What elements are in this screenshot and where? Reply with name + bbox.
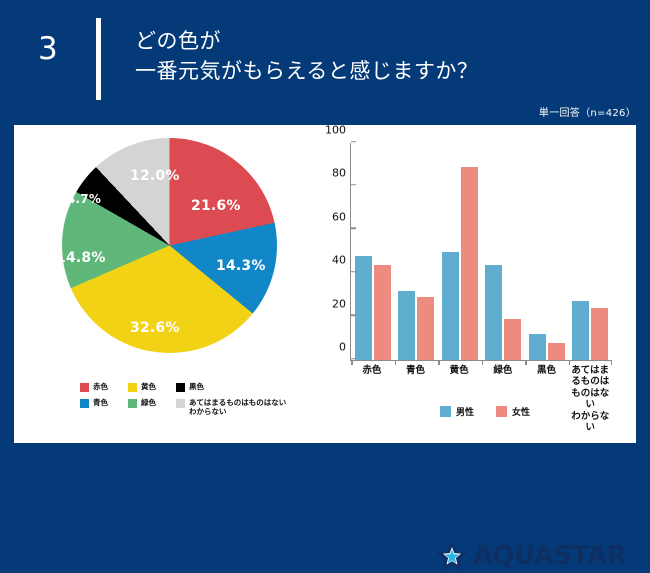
bar-legend-item-male: 男性	[440, 405, 474, 418]
pie-legend-item-red: 赤色	[80, 382, 118, 392]
bar-male	[398, 291, 415, 360]
bar-male	[572, 301, 589, 360]
bar-female	[374, 265, 391, 360]
pie-legend-row: 赤色 黄色 黒色	[80, 382, 320, 392]
y-axis-tick-mark	[351, 184, 356, 186]
response-count-note: 単一回答（n=426）	[539, 104, 636, 119]
bar-group	[569, 143, 613, 360]
star-icon	[435, 540, 469, 572]
legend-swatch-female	[496, 406, 507, 417]
y-axis-tick-mark	[351, 271, 356, 273]
bar-group	[395, 143, 439, 360]
bar-female	[548, 343, 565, 360]
pie-legend-item-yellow: 黄色	[128, 382, 166, 392]
bar-legend-label: 男性	[456, 405, 474, 418]
content-card: 21.6% 14.3% 32.6% 14.8% 4.7% 12.0% 赤色 黄色…	[14, 125, 636, 443]
y-axis-tick-mark	[351, 314, 356, 316]
bar-female	[461, 167, 478, 360]
y-axis-tick-label: 0	[339, 341, 351, 354]
bar-female	[591, 308, 608, 360]
y-axis-tick-mark	[351, 141, 356, 143]
y-axis-tick-mark	[351, 228, 356, 230]
bar-male	[485, 265, 502, 360]
pie-slice-label-red: 21.6%	[191, 198, 241, 214]
bar-group	[482, 143, 526, 360]
pie-legend-label: 黄色	[141, 382, 156, 391]
bar-female	[417, 297, 434, 360]
pie-legend-item-black: 黒色	[176, 382, 204, 392]
pie-legend-item-green: 緑色	[128, 398, 166, 408]
x-axis-category-label: 黒色	[525, 365, 569, 405]
pie-legend-label: 青色	[93, 398, 108, 407]
bar-group	[525, 143, 569, 360]
pie-legend-label: 黒色	[189, 382, 204, 391]
bar-group	[438, 143, 482, 360]
y-axis-tick-mark	[351, 358, 356, 360]
legend-swatch-male	[440, 406, 451, 417]
pie-slice-label-yellow: 32.6%	[130, 320, 180, 336]
pie-legend-label: 緑色	[141, 398, 156, 407]
x-axis-category-label: 緑色	[481, 365, 525, 405]
page-title: どの色が 一番元気がもらえると感じますか？	[135, 27, 478, 87]
legend-swatch-yellow	[128, 383, 137, 392]
bar-male	[355, 256, 372, 360]
header-banner: 3 どの色が 一番元気がもらえると感じますか？ 単一回答（n=426）	[0, 0, 650, 125]
pie-legend-item-other: あてはまるものはものはない わからない	[176, 398, 286, 417]
pie-slice-label-black: 4.7%	[67, 192, 101, 206]
bar-male	[529, 334, 546, 360]
legend-swatch-blue	[80, 399, 89, 408]
x-axis-category-label: 黄色	[437, 365, 481, 405]
logo-wordmark: AQUASTAR	[473, 541, 626, 571]
legend-swatch-green	[128, 399, 137, 408]
company-logo: AQUASTAR	[435, 539, 626, 573]
legend-swatch-red	[80, 383, 89, 392]
pie-slice-label-blue: 14.3%	[216, 258, 266, 274]
bar-legend-item-female: 女性	[496, 405, 530, 418]
pie-legend-label: 赤色	[93, 382, 108, 391]
pie-slice-label-other: 12.0%	[130, 168, 180, 184]
bar-group	[351, 143, 395, 360]
y-axis-tick-label: 20	[332, 297, 351, 310]
bar-chart-panel: 020406080100 赤色青色黄色緑色黒色あてはまるものはものはない わから…	[314, 133, 632, 438]
pie-legend: 赤色 黄色 黒色 青色 緑色	[80, 382, 320, 423]
bar-legend-label: 女性	[512, 405, 530, 418]
bar-groups	[351, 143, 612, 360]
y-axis-tick-label: 60	[332, 210, 351, 223]
pie-legend-row: 青色 緑色 あてはまるものはものはない わからない	[80, 398, 320, 417]
pie-slice-label-green: 14.8%	[56, 250, 106, 266]
y-axis-tick-label: 80	[332, 167, 351, 180]
bar-chart-legend: 男性 女性	[440, 405, 552, 418]
bar-chart-x-axis-labels: 赤色青色黄色緑色黒色あてはまるものはものはない わからない	[350, 365, 612, 405]
bar-female	[504, 319, 521, 360]
bar-chart-plot-area: 020406080100	[350, 143, 612, 361]
title-divider-rule	[96, 18, 101, 100]
legend-swatch-gray	[176, 399, 185, 408]
bar-male	[442, 252, 459, 361]
legend-swatch-black	[176, 383, 185, 392]
pie-legend-label: あてはまるものはものはない わからない	[189, 398, 286, 417]
x-axis-category-label: あてはまるものはものはない わからない	[568, 365, 612, 405]
question-number: 3	[38, 34, 58, 65]
pie-legend-item-blue: 青色	[80, 398, 118, 408]
y-axis-tick-label: 100	[325, 124, 351, 137]
x-axis-category-label: 赤色	[350, 365, 394, 405]
x-axis-category-label: 青色	[394, 365, 438, 405]
y-axis-tick-label: 40	[332, 254, 351, 267]
pie-chart-panel: 21.6% 14.3% 32.6% 14.8% 4.7% 12.0% 赤色 黄色…	[26, 130, 316, 438]
